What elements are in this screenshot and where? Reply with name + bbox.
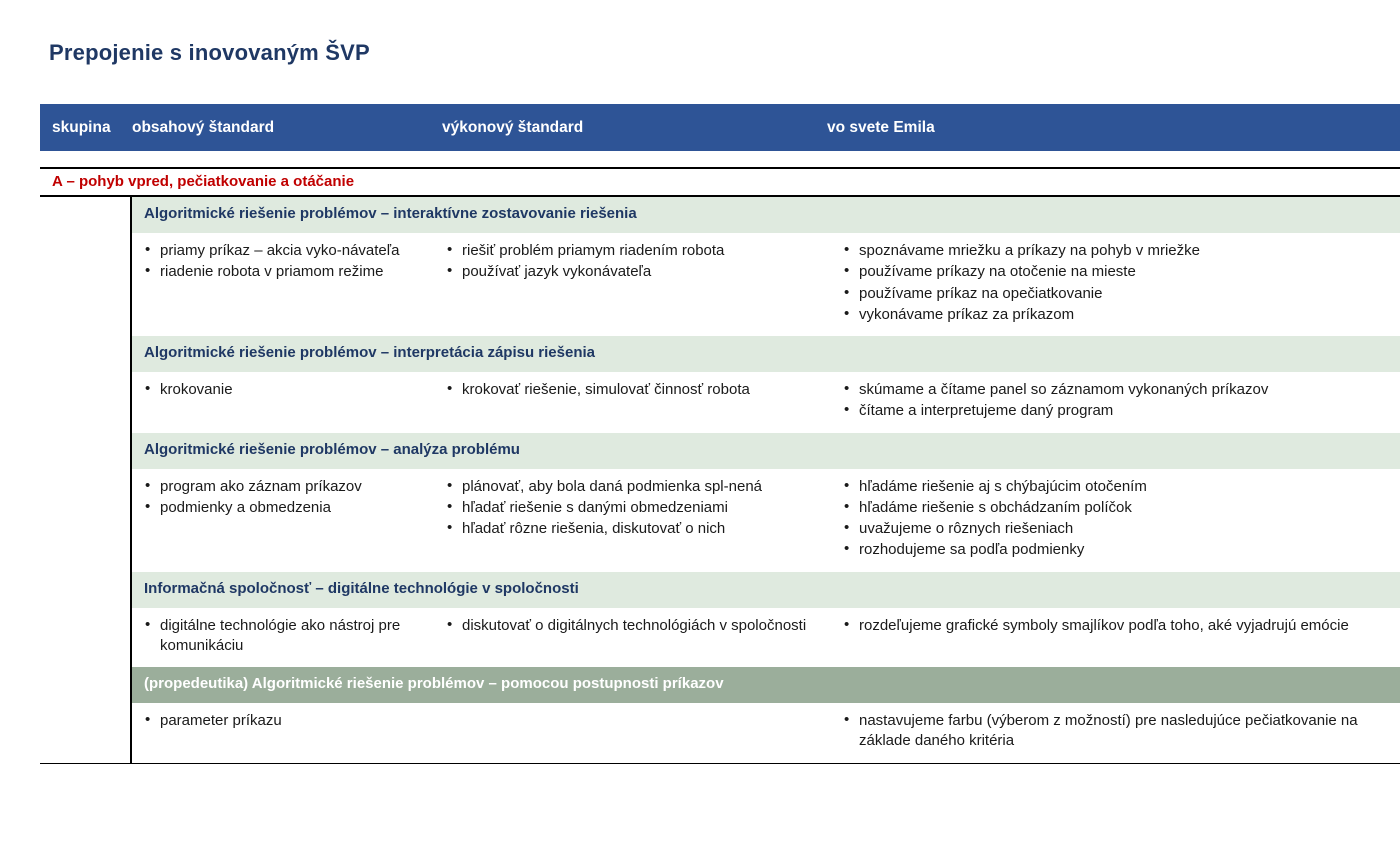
cell-vo-svete-emila-list: rozdeľujeme grafické symboly smajlíkov p… <box>843 616 1386 636</box>
cell-vykonovy-standard-list: plánovať, aby bola daná podmienka spl-ne… <box>446 477 813 540</box>
cell-vo-svete-emila: spoznávame mriežku a príkazy na pohyb v … <box>827 241 1400 326</box>
column-header-vykonovy-standard: výkonový štandard <box>442 119 827 137</box>
section-row: krokovaniekrokovať riešenie, simulovať č… <box>132 372 1400 433</box>
cell-vo-svete-emila: rozdeľujeme grafické symboly smajlíkov p… <box>827 616 1400 658</box>
cell-vo-svete-emila-list: spoznávame mriežku a príkazy na pohyb v … <box>843 241 1386 325</box>
list-item: priamy príkaz – akcia vyko-návateľa <box>144 241 428 261</box>
cell-obsahovy-standard-list: program ako záznam príkazovpodmienky a o… <box>144 477 428 519</box>
list-item: používať jazyk vykonávateľa <box>446 262 813 282</box>
cell-vykonovy-standard: diskutovať o digitálnych technológiách v… <box>442 616 827 658</box>
list-item: rozdeľujeme grafické symboly smajlíkov p… <box>843 616 1386 636</box>
cell-obsahovy-standard: program ako záznam príkazovpodmienky a o… <box>132 477 442 562</box>
section-heading: Algoritmické riešenie problémov – analýz… <box>132 433 1400 469</box>
list-item: používame príkazy na otočenie na mieste <box>843 262 1386 282</box>
cell-obsahovy-standard: krokovanie <box>132 380 442 423</box>
list-item: hľadať riešenie s danými obmedzeniami <box>446 498 813 518</box>
cell-obsahovy-standard-list: digitálne technológie ako nástroj pre ko… <box>144 616 428 657</box>
section-heading: Algoritmické riešenie problémov – intera… <box>132 197 1400 233</box>
cell-vo-svete-emila: skúmame a čítame panel so záznamom vykon… <box>827 380 1400 423</box>
cell-obsahovy-standard: parameter príkazu <box>132 711 442 753</box>
section-row: digitálne technológie ako nástroj pre ko… <box>132 608 1400 668</box>
cell-vykonovy-standard-list: riešiť problém priamym riadením robotapo… <box>446 241 813 283</box>
list-item: program ako záznam príkazov <box>144 477 428 497</box>
section-row: program ako záznam príkazovpodmienky a o… <box>132 469 1400 572</box>
cell-obsahovy-standard-list: parameter príkazu <box>144 711 428 731</box>
cell-vykonovy-standard: riešiť problém priamym riadením robotapo… <box>442 241 827 326</box>
cell-obsahovy-standard: digitálne technológie ako nástroj pre ko… <box>132 616 442 658</box>
column-header-obsahovy-standard: obsahový štandard <box>132 119 442 137</box>
list-item: používame príkaz na opečiatkovanie <box>843 284 1386 304</box>
cell-vykonovy-standard-list: krokovať riešenie, simulovať činnosť rob… <box>446 380 813 400</box>
list-item: digitálne technológie ako nástroj pre ko… <box>144 616 428 657</box>
group-row: A – pohyb vpred, pečiatkovanie a otáčani… <box>40 167 1400 197</box>
list-item: hľadáme riešenie aj s chýbajúcim otočení… <box>843 477 1386 497</box>
section-heading: (propedeutika) Algoritmické riešenie pro… <box>132 667 1400 703</box>
list-item: riešiť problém priamym riadením robota <box>446 241 813 261</box>
cell-vo-svete-emila: nastavujeme farbu (výberom z možností) p… <box>827 711 1400 753</box>
list-item: uvažujeme o rôznych riešeniach <box>843 519 1386 539</box>
section-heading: Informačná spoločnosť – digitálne techno… <box>132 572 1400 608</box>
header-body-gap <box>40 151 1400 167</box>
cell-vo-svete-emila-list: hľadáme riešenie aj s chýbajúcim otočení… <box>843 477 1386 561</box>
cell-obsahovy-standard-list: priamy príkaz – akcia vyko-návateľariade… <box>144 241 428 283</box>
section-row: priamy príkaz – akcia vyko-návateľariade… <box>132 233 1400 336</box>
list-item: plánovať, aby bola daná podmienka spl-ne… <box>446 477 813 497</box>
cell-obsahovy-standard: priamy príkaz – akcia vyko-návateľariade… <box>132 241 442 326</box>
list-item: rozhodujeme sa podľa podmienky <box>843 540 1386 560</box>
list-item: krokovať riešenie, simulovať činnosť rob… <box>446 380 813 400</box>
list-item: nastavujeme farbu (výberom z možností) p… <box>843 711 1386 752</box>
list-item: vykonávame príkaz za príkazom <box>843 305 1386 325</box>
sections-container: Algoritmické riešenie problémov – intera… <box>132 197 1400 763</box>
cell-vo-svete-emila-list: skúmame a čítame panel so záznamom vykon… <box>843 380 1386 422</box>
column-header-vo-svete-emila: vo svete Emila <box>827 119 1400 137</box>
list-item: hľadáme riešenie s obchádzaním políčok <box>843 498 1386 518</box>
list-item: podmienky a obmedzenia <box>144 498 428 518</box>
page-title: Prepojenie s inovovaným ŠVP <box>49 40 370 66</box>
list-item: hľadať rôzne riešenia, diskutovať o nich <box>446 519 813 539</box>
skupina-cell <box>40 197 132 763</box>
table-body: Algoritmické riešenie problémov – intera… <box>40 197 1400 764</box>
list-item: riadenie robota v priamom režime <box>144 262 428 282</box>
cell-vo-svete-emila-list: nastavujeme farbu (výberom z možností) p… <box>843 711 1386 752</box>
column-header-skupina: skupina <box>40 119 132 137</box>
section-row: parameter príkazunastavujeme farbu (výbe… <box>132 703 1400 763</box>
list-item: parameter príkazu <box>144 711 428 731</box>
cell-vykonovy-standard: plánovať, aby bola daná podmienka spl-ne… <box>442 477 827 562</box>
cell-vykonovy-standard-list: diskutovať o digitálnych technológiách v… <box>446 616 813 636</box>
svp-mapping-table: skupina obsahový štandard výkonový štand… <box>40 104 1400 764</box>
document-page: Prepojenie s inovovaným ŠVP skupina obsa… <box>0 0 1400 843</box>
cell-vykonovy-standard: krokovať riešenie, simulovať činnosť rob… <box>442 380 827 423</box>
group-label: A – pohyb vpred, pečiatkovanie a otáčani… <box>52 173 354 190</box>
list-item: diskutovať o digitálnych technológiách v… <box>446 616 813 636</box>
list-item: spoznávame mriežku a príkazy na pohyb v … <box>843 241 1386 261</box>
cell-obsahovy-standard-list: krokovanie <box>144 380 428 400</box>
list-item: skúmame a čítame panel so záznamom vykon… <box>843 380 1386 400</box>
list-item: čítame a interpretujeme daný program <box>843 401 1386 421</box>
cell-vykonovy-standard <box>442 711 827 753</box>
list-item: krokovanie <box>144 380 428 400</box>
section-heading: Algoritmické riešenie problémov – interp… <box>132 336 1400 372</box>
cell-vo-svete-emila: hľadáme riešenie aj s chýbajúcim otočení… <box>827 477 1400 562</box>
table-header-row: skupina obsahový štandard výkonový štand… <box>40 104 1400 151</box>
